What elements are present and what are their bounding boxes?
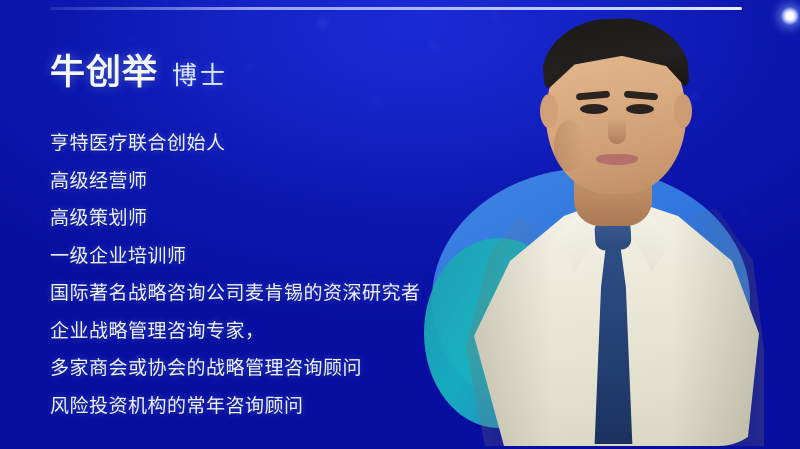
portrait-nose (608, 118, 626, 144)
bokeh-particle (246, 64, 252, 70)
speaker-name: 牛创举 (50, 55, 158, 90)
credential-line: 高级经营师 (50, 163, 480, 201)
portrait-ear-left (540, 94, 558, 128)
credential-line: 国际著名战略咨询公司麦肯锡的资深研究者 (50, 275, 480, 313)
speaker-name-row: 牛创举 博士 (50, 55, 228, 90)
portrait-ear-right (674, 94, 692, 128)
bokeh-particle (372, 96, 381, 105)
credential-line: 一级企业培训师 (50, 238, 480, 276)
portrait-eye-right (626, 104, 654, 114)
credential-line: 高级策划师 (50, 200, 480, 238)
credential-line: 企业战略管理咨询专家， (50, 313, 480, 351)
credential-line: 风险投资机构的常年咨询顾问 (50, 388, 480, 426)
credential-line: 亨特医疗联合创始人 (50, 125, 480, 163)
portrait-cheek-shadow (554, 120, 584, 172)
speaker-credentials-list: 亨特医疗联合创始人 高级经营师 高级策划师 一级企业培训师 国际著名战略咨询公司… (50, 125, 480, 425)
portrait-shirt-shadow-right (672, 208, 764, 446)
speaker-profile-slide: 牛创举 博士 亨特医疗联合创始人 高级经营师 高级策划师 一级企业培训师 国际著… (0, 0, 800, 449)
portrait-eye-left (580, 104, 608, 114)
speaker-degree: 博士 (172, 64, 228, 89)
bokeh-particle (318, 18, 328, 28)
credential-line: 多家商会或协会的战略管理咨询顾问 (50, 350, 480, 388)
bokeh-particle (128, 36, 133, 41)
portrait-mouth (596, 154, 638, 165)
